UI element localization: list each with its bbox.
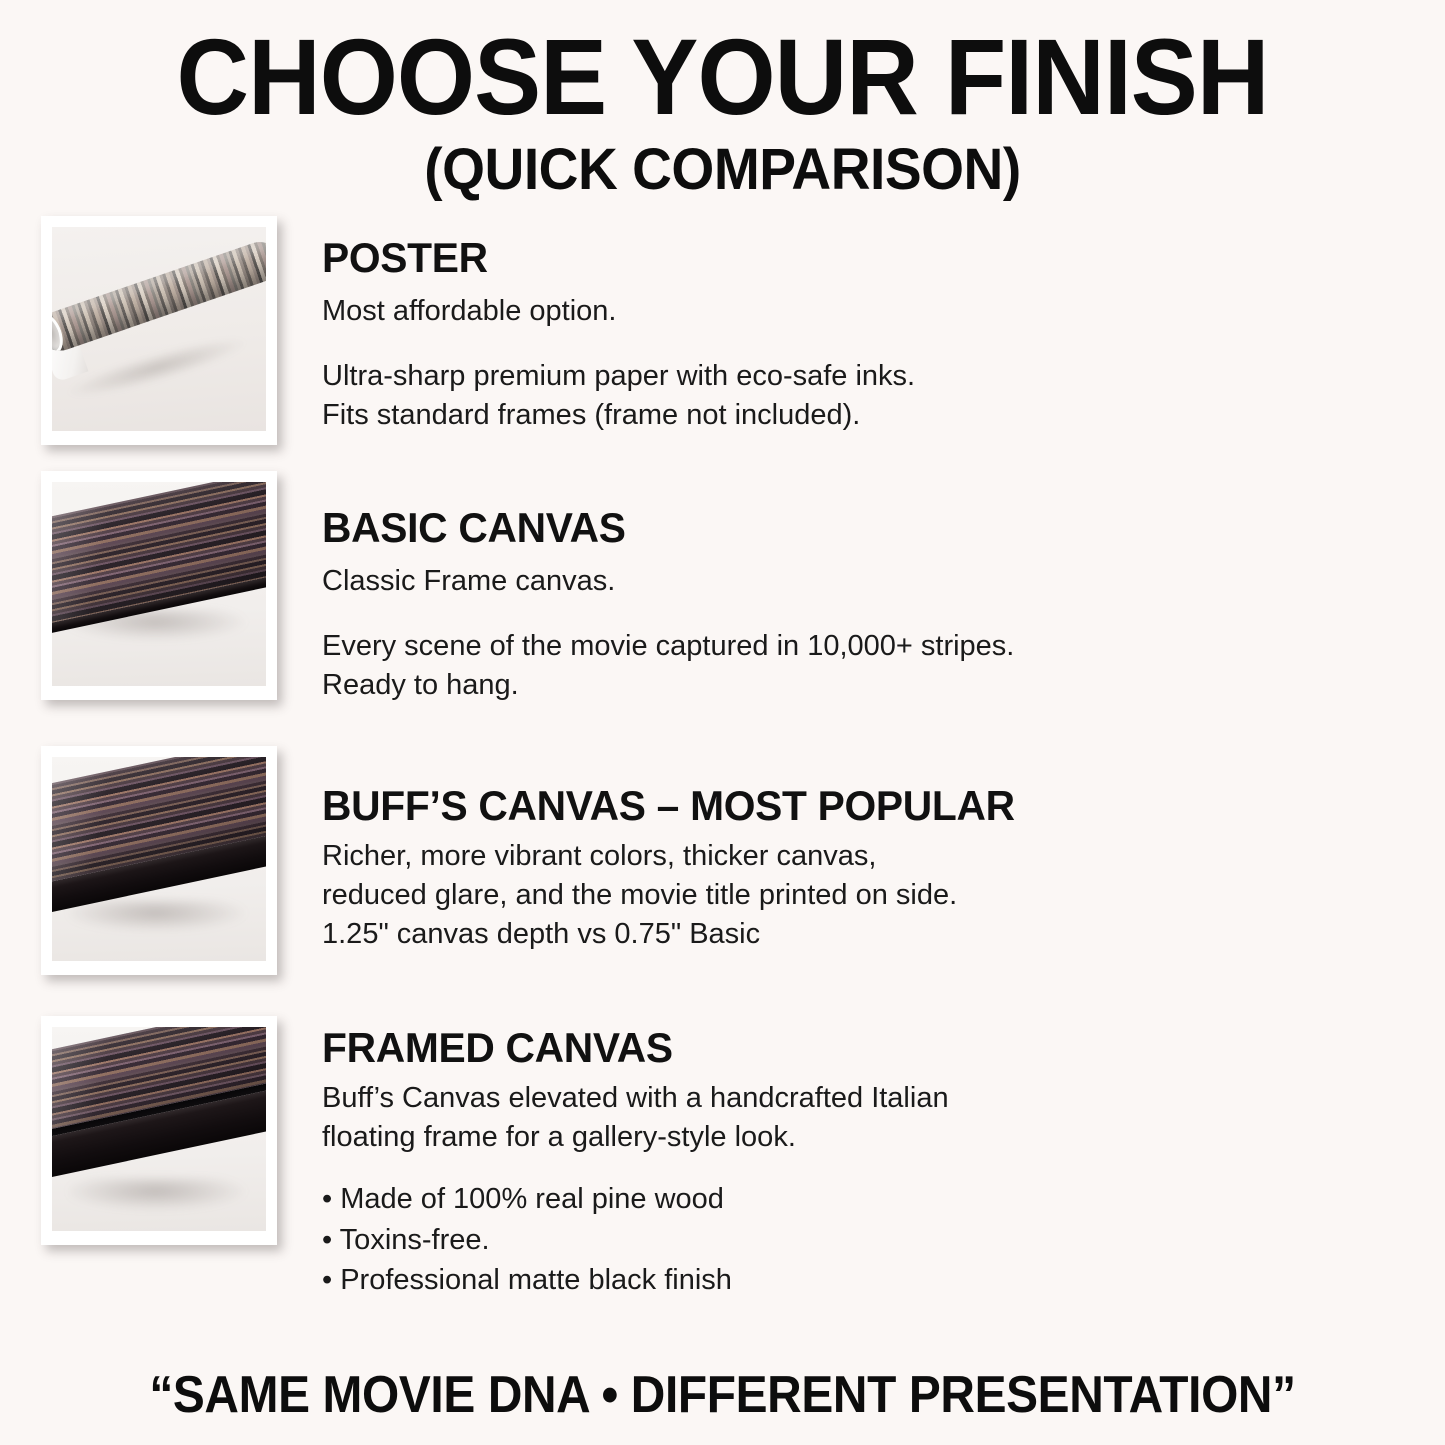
detail-line: Ready to hang. <box>322 666 1385 705</box>
section-detail-poster: Ultra-sharp premium paper with eco-safe … <box>322 357 1385 435</box>
list-item-buffs-canvas: BUFF’S CANVAS – MOST POPULAR Richer, mor… <box>0 746 1445 975</box>
text-column-basic-canvas: BASIC CANVAS Classic Frame canvas. Every… <box>300 471 1445 705</box>
thumbnail-wrapper-buffs-canvas <box>0 746 300 975</box>
section-heading-basic-canvas: BASIC CANVAS <box>322 505 1353 550</box>
text-column-buffs-canvas: BUFF’S CANVAS – MOST POPULAR Richer, mor… <box>300 746 1445 954</box>
footer-tagline: “SAME MOVIE DNA • DIFFERENT PRESENTATION… <box>58 1365 1387 1425</box>
product-photo-card-buffs-canvas <box>41 746 277 975</box>
thick-canvas-corner-photo <box>52 757 266 961</box>
canvas-shadow <box>69 1178 249 1211</box>
thumbnail-wrapper-poster <box>0 216 300 445</box>
product-photo-card-basic-canvas <box>41 471 277 700</box>
detail-line: Ultra-sharp premium paper with eco-safe … <box>322 357 1385 396</box>
text-column-framed-canvas: FRAMED CANVAS Buff’s Canvas elevated wit… <box>300 1016 1445 1301</box>
page-subtitle: (QUICK COMPARISON) <box>36 140 1409 201</box>
section-heading-buffs-canvas: BUFF’S CANVAS – MOST POPULAR <box>322 783 1353 828</box>
header: CHOOSE YOUR FINISH (QUICK COMPARISON) <box>0 0 1445 201</box>
roll-open-end <box>52 311 68 356</box>
canvas-shadow <box>69 900 249 933</box>
finish-options-list: POSTER Most affordable option. Ultra-sha… <box>0 201 1445 1445</box>
framed-canvas-corner-photo <box>52 1027 266 1231</box>
product-photo-card-framed-canvas <box>41 1016 277 1245</box>
list-item-poster: POSTER Most affordable option. Ultra-sha… <box>0 216 1445 445</box>
detail-line: Every scene of the movie captured in 10,… <box>322 627 1385 666</box>
detail-line: 1.25" canvas depth vs 0.75" Basic <box>322 915 1385 954</box>
product-photo-card-poster <box>41 216 277 445</box>
list-item-basic-canvas: BASIC CANVAS Classic Frame canvas. Every… <box>0 471 1445 705</box>
rolled-poster-photo <box>52 227 266 431</box>
detail-line: reduced glare, and the movie title print… <box>322 876 1385 915</box>
list-item: • Made of 100% real pine wood <box>322 1179 1385 1220</box>
page-title: CHOOSE YOUR FINISH <box>51 22 1395 132</box>
section-detail-framed-canvas: Buff’s Canvas elevated with a handcrafte… <box>322 1079 1385 1157</box>
feature-bullet-list: • Made of 100% real pine wood • Toxins-f… <box>322 1179 1385 1301</box>
detail-line: Fits standard frames (frame not included… <box>322 396 1385 435</box>
thumbnail-wrapper-framed-canvas <box>0 1016 300 1245</box>
detail-line: floating frame for a gallery-style look. <box>322 1118 1385 1157</box>
list-item-framed-canvas: FRAMED CANVAS Buff’s Canvas elevated wit… <box>0 1016 1445 1301</box>
detail-line: Richer, more vibrant colors, thicker can… <box>322 837 1385 876</box>
section-lede-poster: Most affordable option. <box>322 293 1385 331</box>
detail-line: Buff’s Canvas elevated with a handcrafte… <box>322 1079 1385 1118</box>
section-detail-buffs-canvas: Richer, more vibrant colors, thicker can… <box>322 837 1385 954</box>
list-item: • Toxins-free. <box>322 1220 1385 1261</box>
section-heading-framed-canvas: FRAMED CANVAS <box>322 1025 1353 1070</box>
text-column-poster: POSTER Most affordable option. Ultra-sha… <box>300 216 1445 435</box>
section-lede-basic-canvas: Classic Frame canvas. <box>322 563 1385 601</box>
finish-comparison-infographic: CHOOSE YOUR FINISH (QUICK COMPARISON) <box>0 0 1445 1445</box>
footer: “SAME MOVIE DNA • DIFFERENT PRESENTATION… <box>0 1365 1445 1425</box>
section-detail-basic-canvas: Every scene of the movie captured in 10,… <box>322 627 1385 705</box>
section-heading-poster: POSTER <box>322 235 1353 280</box>
thin-canvas-corner-photo <box>52 482 266 686</box>
list-item: • Professional matte black finish <box>322 1260 1385 1301</box>
thumbnail-wrapper-basic-canvas <box>0 471 300 700</box>
